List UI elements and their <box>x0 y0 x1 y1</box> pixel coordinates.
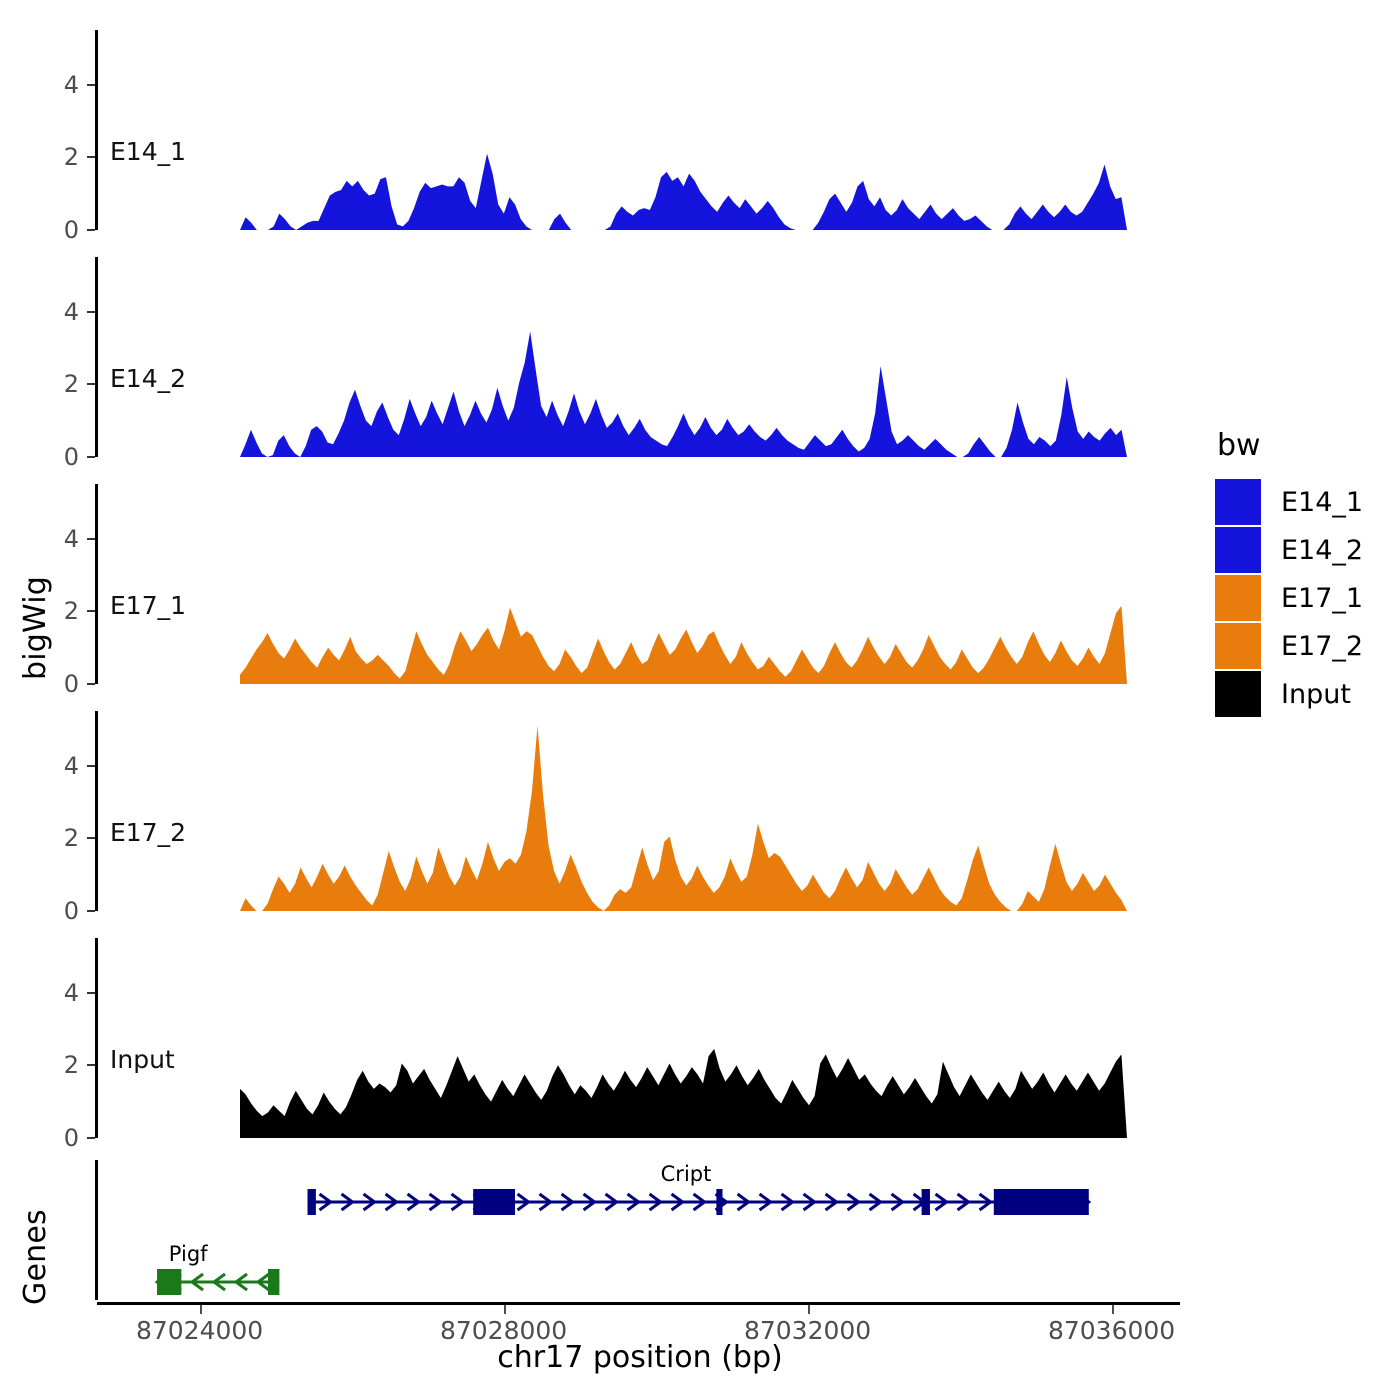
legend-label: E14_1 <box>1281 487 1363 518</box>
legend-swatch <box>1215 575 1261 621</box>
legend-item-input[interactable]: Input <box>1215 671 1363 717</box>
x-tick <box>200 1305 202 1314</box>
genes-strip-title: Genes <box>18 1165 53 1305</box>
genes-panel: CriptPigf <box>95 1160 1140 1300</box>
coverage-track-input <box>0 938 1200 1138</box>
gene-pigf[interactable] <box>95 1160 1140 1300</box>
coverage-track-e14_1 <box>0 30 1200 230</box>
legend-label: E14_2 <box>1281 535 1363 566</box>
bigwig-panel-input: 024Input <box>0 938 1200 1138</box>
legend-label: E17_2 <box>1281 631 1363 662</box>
x-tick <box>808 1305 810 1314</box>
legend-title: bw <box>1217 428 1363 463</box>
legend-swatch <box>1215 671 1261 717</box>
genome-browser-figure: bigWig Genes 024E14_1024E14_2024E17_1024… <box>0 0 1400 1400</box>
gene-label-pigf: Pigf <box>169 1242 208 1266</box>
legend-item-e14_2[interactable]: E14_2 <box>1215 527 1363 573</box>
legend-item-e17_1[interactable]: E17_1 <box>1215 575 1363 621</box>
coverage-track-e14_2 <box>0 257 1200 457</box>
x-tick <box>1112 1305 1114 1314</box>
legend: bw E14_1E14_2E17_1E17_2Input <box>1215 428 1363 719</box>
legend-swatch <box>1215 479 1261 525</box>
bigwig-panel-e14_1: 024E14_1 <box>0 30 1200 230</box>
x-axis-title: chr17 position (bp) <box>240 1340 1040 1375</box>
legend-swatch <box>1215 527 1261 573</box>
legend-label: Input <box>1281 679 1351 710</box>
bigwig-panel-e17_1: 024E17_1 <box>0 484 1200 684</box>
legend-item-e17_2[interactable]: E17_2 <box>1215 623 1363 669</box>
x-tick-label: 87036000 <box>1048 1316 1175 1345</box>
coverage-track-e17_1 <box>0 484 1200 684</box>
coverage-track-e17_2 <box>0 711 1200 911</box>
bigwig-panel-e17_2: 024E17_2 <box>0 711 1200 911</box>
legend-items: E14_1E14_2E17_1E17_2Input <box>1215 479 1363 717</box>
legend-item-e14_1[interactable]: E14_1 <box>1215 479 1363 525</box>
x-tick <box>504 1305 506 1314</box>
legend-swatch <box>1215 623 1261 669</box>
x-axis-line <box>97 1302 1180 1305</box>
legend-label: E17_1 <box>1281 583 1363 614</box>
bigwig-panel-e14_2: 024E14_2 <box>0 257 1200 457</box>
